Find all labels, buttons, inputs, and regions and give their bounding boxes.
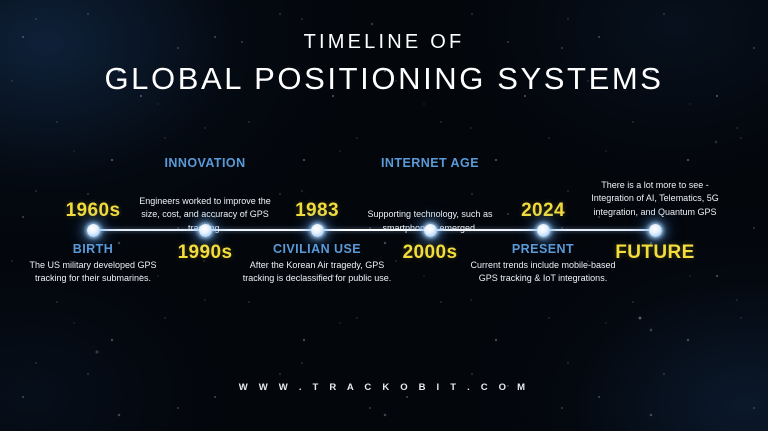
timeline-description-future: There is a lot more to see - Integration… bbox=[580, 179, 730, 219]
timeline-dot-icon-future bbox=[649, 224, 662, 237]
title-line-1: TIMELINE OF bbox=[0, 32, 768, 52]
timeline-dot-icon-innovation bbox=[199, 224, 212, 237]
timeline-dot-icon-present bbox=[537, 224, 550, 237]
timeline-heading-innovation: INNOVATION bbox=[100, 157, 310, 170]
timeline-dot-icon-birth bbox=[87, 224, 100, 237]
title-block: TIMELINE OF GLOBAL POSITIONING SYSTEMS bbox=[0, 32, 768, 94]
footer-website[interactable]: W W W . T R A C K O B I T . C O M bbox=[0, 382, 768, 393]
timeline-year-future: FUTURE bbox=[555, 243, 755, 262]
timeline-dot-icon-civilian-use bbox=[311, 224, 324, 237]
timeline-infographic: TIMELINE OF GLOBAL POSITIONING SYSTEMS 1… bbox=[0, 0, 768, 431]
timeline-description-birth: The US military developed GPS tracking f… bbox=[23, 259, 163, 286]
timeline-dot-icon-internet-age bbox=[424, 224, 437, 237]
timeline-description-present: Current trends include mobile-based GPS … bbox=[463, 259, 623, 286]
title-line-2: GLOBAL POSITIONING SYSTEMS bbox=[0, 63, 768, 94]
timeline-description-civilian-use: After the Korean Air tragedy, GPS tracki… bbox=[242, 259, 392, 286]
timeline-heading-internet-age: INTERNET AGE bbox=[325, 157, 535, 170]
